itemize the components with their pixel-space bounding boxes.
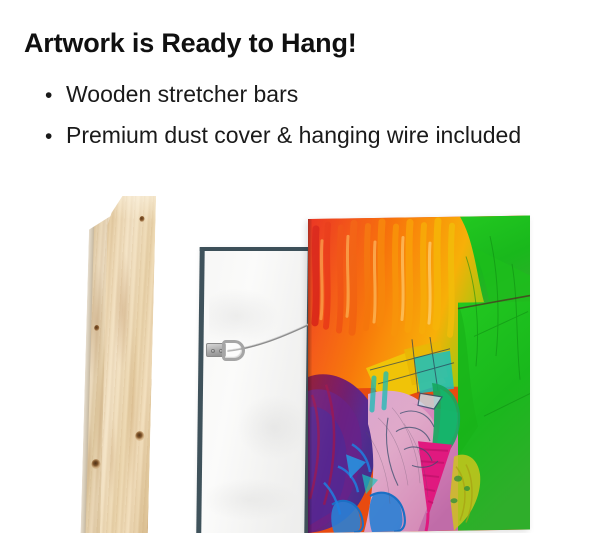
screw-hole xyxy=(211,349,215,353)
canvas-left-edge xyxy=(308,219,312,533)
bullet-icon: • xyxy=(45,85,66,106)
d-ring-loop xyxy=(222,340,245,361)
bullet-icon: • xyxy=(45,126,66,147)
promo-graphic: Artwork is Ready to Hang! • Wooden stret… xyxy=(0,0,600,533)
feature-list-item: • Wooden stretcher bars xyxy=(45,81,298,108)
d-ring-hanger-icon xyxy=(206,340,250,362)
feature-text-block: Artwork is Ready to Hang! • Wooden stret… xyxy=(0,0,600,175)
wooden-stretcher-bars xyxy=(60,195,210,533)
feature-list-item: • Premium dust cover & hanging wire incl… xyxy=(45,122,521,149)
product-illustration xyxy=(0,195,600,533)
stretcher-bar-front xyxy=(100,195,156,533)
feature-label: Wooden stretcher bars xyxy=(66,81,298,108)
bar-bevel-top xyxy=(107,195,156,229)
artwork-canvas-print xyxy=(308,216,530,533)
dust-cover-panel-group xyxy=(198,247,310,533)
wood-grain-texture xyxy=(100,195,156,533)
feature-label: Premium dust cover & hanging wire includ… xyxy=(66,122,521,149)
page-title: Artwork is Ready to Hang! xyxy=(24,28,357,59)
abstract-painting xyxy=(308,216,530,533)
